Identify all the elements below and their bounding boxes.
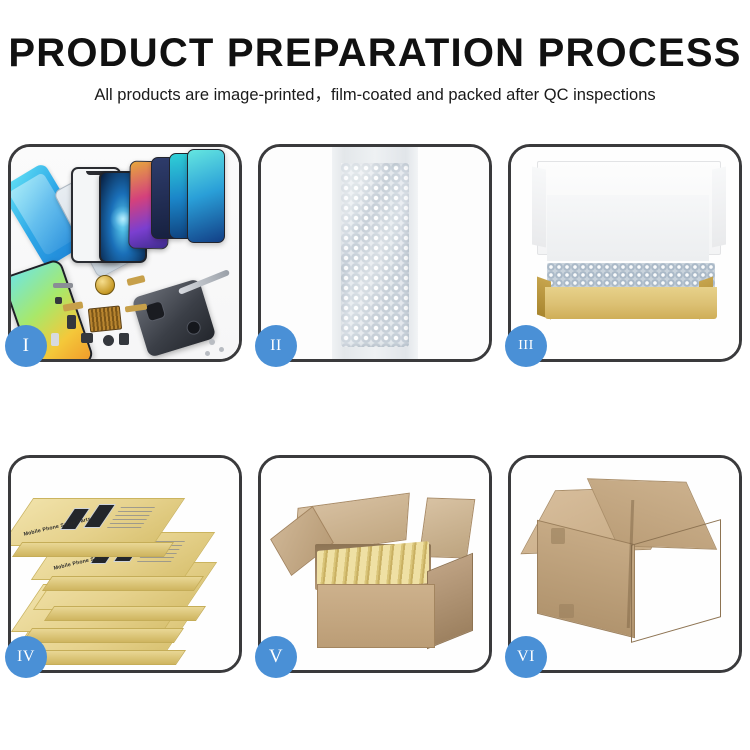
- header: PRODUCT PREPARATION PROCESS All products…: [0, 0, 750, 120]
- process-step-grid: I II: [0, 136, 750, 686]
- carton-loading-scene: [261, 458, 489, 670]
- part-chip-1: [53, 283, 73, 288]
- step-panel-3: III: [508, 144, 742, 362]
- step-panel-4: Mobile Phone Spare Parts Mobile Phone Sp…: [8, 455, 242, 673]
- bubble-wrap-icon: [341, 163, 409, 347]
- screw-3: [205, 351, 210, 356]
- product-preparation-infographic: PRODUCT PREPARATION PROCESS All products…: [0, 0, 750, 750]
- step-5-image: [261, 458, 489, 670]
- step-badge-6: VI: [505, 636, 547, 678]
- part-chip-3: [81, 333, 93, 343]
- step-panel-5: V: [258, 455, 492, 673]
- step-badge-3: III: [505, 325, 547, 367]
- step-3-image: [511, 147, 739, 359]
- step-panel-2: II: [258, 144, 492, 362]
- kraft-box-open-scene: [511, 147, 739, 359]
- sealed-carton-scene: [511, 458, 739, 670]
- step-4-image: Mobile Phone Spare Parts Mobile Phone Sp…: [11, 458, 239, 670]
- step-badge-5: V: [255, 636, 297, 678]
- screw-2: [219, 347, 224, 352]
- step-1-image: [11, 147, 239, 359]
- box-front-panel: [545, 287, 717, 319]
- carton-tape-mark-2: [559, 604, 574, 618]
- stacked-boxes-scene: Mobile Phone Spare Parts Mobile Phone Sp…: [11, 458, 239, 670]
- flex-cable-1: [126, 275, 145, 286]
- bubble-wrap-scene: [261, 147, 489, 359]
- screw-1: [209, 339, 215, 345]
- part-chip-4: [103, 335, 114, 346]
- step-panel-6: VI: [508, 455, 742, 673]
- step-badge-2: II: [255, 325, 297, 367]
- step-badge-1: I: [5, 325, 47, 367]
- phone-back-housing-icon: [131, 278, 216, 358]
- step-panel-1: I: [8, 144, 242, 362]
- speaker-part-icon: [95, 275, 115, 295]
- part-chip-2: [67, 315, 76, 329]
- part-chip-6: [51, 333, 59, 346]
- part-chip-7: [55, 297, 62, 304]
- step-badge-4: IV: [5, 636, 47, 678]
- box-inner-wall: [547, 195, 709, 261]
- carton-front-panel: [317, 584, 435, 648]
- step-6-image: [511, 458, 739, 670]
- carton-tape-mark-1: [551, 528, 565, 544]
- phone-cyan-icon: [187, 149, 225, 243]
- page-title: PRODUCT PREPARATION PROCESS: [0, 30, 750, 76]
- logic-board-icon: [88, 305, 122, 332]
- page-subtitle: All products are image-printed，film-coat…: [0, 84, 750, 106]
- part-chip-5: [119, 333, 129, 345]
- phone-parts-scene: [11, 147, 239, 359]
- step-2-image: [261, 147, 489, 359]
